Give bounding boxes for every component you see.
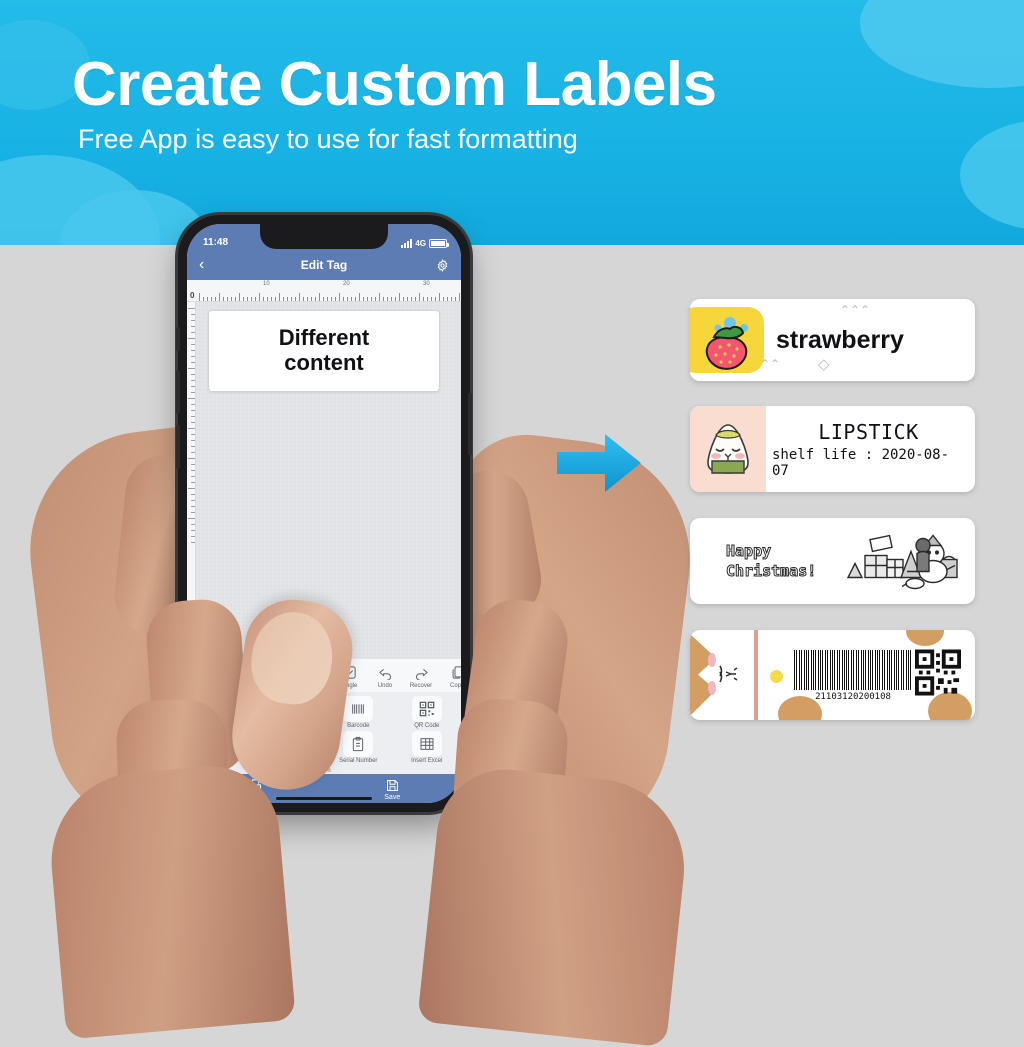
ruler-tick bbox=[191, 344, 195, 345]
chevron-left-icon[interactable]: ‹ bbox=[199, 257, 204, 273]
ruler-tick bbox=[431, 297, 432, 301]
tool-qrcode[interactable]: QR Code bbox=[393, 696, 462, 729]
save-button[interactable]: Save bbox=[384, 778, 400, 801]
ruler-tick bbox=[271, 297, 272, 301]
ruler-tick bbox=[311, 297, 312, 301]
mute-switch[interactable] bbox=[176, 327, 180, 351]
ruler-ticks bbox=[187, 289, 461, 301]
ruler-tick bbox=[191, 524, 195, 525]
cloud-decoration bbox=[860, 0, 1024, 88]
ruler-tick bbox=[451, 297, 452, 301]
ruler-tick bbox=[191, 404, 195, 405]
ruler-tick bbox=[191, 494, 195, 495]
ruler-tick bbox=[223, 297, 224, 301]
barcode-number: 21103120200108 bbox=[794, 692, 912, 702]
ruler-tick bbox=[347, 297, 348, 301]
ruler-tick bbox=[188, 308, 195, 309]
ruler-tick bbox=[395, 297, 396, 301]
ruler-tick bbox=[191, 542, 195, 543]
ruler-tick bbox=[447, 297, 448, 301]
ruler-tick bbox=[427, 297, 428, 301]
ruler-tick bbox=[251, 297, 252, 301]
ruler-tick bbox=[191, 410, 195, 411]
tool-label: Barcode bbox=[347, 723, 369, 729]
ruler-tick bbox=[199, 293, 200, 301]
cat-face-icon bbox=[690, 630, 752, 720]
ruler-tick bbox=[239, 293, 240, 301]
sticker-lipstick: LIPSTICK shelf life : 2020-08-07 bbox=[690, 406, 975, 492]
ruler-tick bbox=[255, 297, 256, 301]
ruler-tick bbox=[315, 297, 316, 301]
ruler-tick bbox=[211, 297, 212, 301]
ruler-tick bbox=[191, 446, 195, 447]
undo-arrow-icon bbox=[377, 664, 394, 681]
toolbar-item-recover[interactable]: Recover bbox=[403, 664, 439, 689]
ruler-tick bbox=[439, 293, 440, 301]
volume-down-button[interactable] bbox=[176, 425, 180, 469]
ruler-tick bbox=[287, 297, 288, 301]
tool-insert-excel[interactable]: Insert Excel bbox=[393, 731, 462, 764]
ruler-tick-label: 10 bbox=[263, 281, 270, 287]
ruler-tick bbox=[191, 332, 195, 333]
ruler-tick bbox=[339, 293, 340, 301]
ruler-tick bbox=[371, 297, 372, 301]
ruler-tick bbox=[191, 416, 195, 417]
clipboard-icon bbox=[343, 731, 373, 757]
ruler-tick bbox=[203, 297, 204, 301]
ruler-tick bbox=[188, 368, 195, 369]
ruler-tick bbox=[191, 326, 195, 327]
ruler-tick bbox=[191, 380, 195, 381]
ruler-tick-label: 30 bbox=[423, 281, 430, 287]
ruler-tick bbox=[367, 297, 368, 301]
yellow-dot-decoration bbox=[770, 670, 783, 683]
ruler-tick bbox=[231, 297, 232, 301]
ruler-tick bbox=[191, 320, 195, 321]
ruler-tick bbox=[191, 374, 195, 375]
sticker-barcode: 21103120200108 bbox=[690, 630, 975, 720]
tool-label: Insert Excel bbox=[411, 758, 442, 764]
ruler-tick bbox=[283, 297, 284, 301]
toolbar-label: Recover bbox=[410, 683, 432, 689]
ruler-tick bbox=[263, 297, 264, 301]
ruler-tick bbox=[188, 398, 195, 399]
ruler-tick bbox=[191, 386, 195, 387]
ruler-tick bbox=[375, 297, 376, 301]
ruler-tick bbox=[331, 297, 332, 301]
ruler-origin-label: 0 bbox=[190, 291, 194, 300]
save-disk-icon bbox=[385, 778, 400, 793]
ruler-tick bbox=[295, 297, 296, 301]
ruler-tick bbox=[363, 297, 364, 301]
hero-banner: Create Custom Labels Free App is easy to… bbox=[0, 0, 1024, 245]
status-indicators: 4G bbox=[401, 239, 447, 248]
sticker-strawberry: ⌃⌃⌃ ⌃⌃ ◇ strawberry bbox=[690, 299, 975, 381]
toolbar-item-copy[interactable]: Copy bbox=[439, 664, 461, 689]
ruler-tick bbox=[387, 297, 388, 301]
stripe-decoration bbox=[754, 630, 758, 720]
ruler-tick bbox=[227, 297, 228, 301]
save-label: Save bbox=[384, 794, 400, 801]
ruler-tick bbox=[419, 293, 420, 301]
ruler-tick bbox=[191, 470, 195, 471]
ruler-tick bbox=[379, 293, 380, 301]
sticker-text: Happy Christmas! bbox=[726, 541, 816, 582]
redo-arrow-icon bbox=[413, 664, 430, 681]
gear-icon[interactable] bbox=[436, 259, 449, 272]
ruler-tick bbox=[279, 293, 280, 301]
ruler-tick bbox=[391, 297, 392, 301]
ruler-tick bbox=[335, 297, 336, 301]
ruler-tick bbox=[259, 293, 260, 301]
status-time: 11:48 bbox=[203, 237, 228, 248]
ruler-tick bbox=[215, 297, 216, 301]
cloud-decoration bbox=[960, 120, 1024, 230]
ruler-tick bbox=[191, 476, 195, 477]
volume-up-button[interactable] bbox=[176, 370, 180, 414]
right-wrist bbox=[417, 763, 693, 1047]
spreadsheet-icon bbox=[412, 731, 442, 757]
ruler-tick bbox=[323, 297, 324, 301]
ruler-tick bbox=[351, 297, 352, 301]
ruler-tick bbox=[188, 428, 195, 429]
ruler-tick bbox=[191, 482, 195, 483]
toolbar-label: Undo bbox=[378, 683, 392, 689]
ruler-tick bbox=[319, 293, 320, 301]
ruler-tick bbox=[191, 464, 195, 465]
ruler-tick bbox=[343, 297, 344, 301]
horizontal-ruler: 10 20 30 0 bbox=[187, 280, 461, 302]
strawberry-icon bbox=[696, 317, 760, 373]
battery-icon bbox=[429, 239, 447, 248]
ruler-tick bbox=[291, 297, 292, 301]
label-object[interactable]: Different content bbox=[208, 310, 440, 392]
ruler-tick bbox=[435, 297, 436, 301]
ruler-tick bbox=[243, 297, 244, 301]
ruler-tick bbox=[191, 356, 195, 357]
home-indicator bbox=[276, 797, 372, 800]
nav-title: Edit Tag bbox=[187, 258, 461, 272]
signal-bars-icon bbox=[401, 239, 412, 248]
ruler-tick bbox=[359, 293, 360, 301]
ruler-tick bbox=[303, 297, 304, 301]
ruler-tick bbox=[191, 362, 195, 363]
ruler-tick bbox=[191, 422, 195, 423]
tool-label: Serial Number bbox=[339, 758, 377, 764]
ruler-tick bbox=[267, 297, 268, 301]
ruler-tick bbox=[307, 297, 308, 301]
ruler-tick bbox=[191, 440, 195, 441]
ruler-tick bbox=[423, 297, 424, 301]
ruler-tick-label: 20 bbox=[343, 281, 350, 287]
ruler-tick bbox=[188, 458, 195, 459]
toolbar-item-undo[interactable]: Undo bbox=[367, 664, 403, 689]
toolbar-label: Copy bbox=[450, 683, 461, 689]
ruler-tick bbox=[327, 297, 328, 301]
page-title: Create Custom Labels bbox=[72, 52, 717, 117]
ruler-tick bbox=[443, 297, 444, 301]
copy-icon bbox=[449, 664, 462, 681]
ruler-tick bbox=[188, 338, 195, 339]
barcode-icon bbox=[794, 650, 912, 690]
ruler-tick bbox=[275, 297, 276, 301]
ruler-tick bbox=[455, 297, 456, 301]
strawberry-art bbox=[690, 299, 768, 381]
sticker-title: LIPSTICK bbox=[818, 420, 918, 444]
qr-code-icon bbox=[412, 696, 442, 722]
christmas-scene-icon bbox=[841, 528, 961, 595]
sticker-text-block: LIPSTICK shelf life : 2020-08-07 bbox=[772, 406, 965, 492]
ruler-tick bbox=[191, 434, 195, 435]
left-wrist bbox=[44, 760, 296, 1039]
notch bbox=[260, 224, 388, 249]
sticker-christmas: Happy Christmas! bbox=[690, 518, 975, 604]
qr-code-icon bbox=[915, 650, 961, 701]
ruler-tick bbox=[191, 314, 195, 315]
ruler-tick bbox=[188, 518, 195, 519]
ruler-tick bbox=[411, 297, 412, 301]
blob-decoration bbox=[906, 630, 944, 646]
ruler-tick bbox=[191, 350, 195, 351]
arrow-right-icon bbox=[555, 430, 643, 496]
ruler-tick bbox=[415, 297, 416, 301]
ruler-tick bbox=[207, 297, 208, 301]
ruler-tick bbox=[407, 297, 408, 301]
ruler-tick bbox=[403, 297, 404, 301]
ruler-tick bbox=[191, 500, 195, 501]
sticker-text: strawberry bbox=[776, 299, 967, 381]
sticker-subtitle: shelf life : 2020-08-07 bbox=[772, 447, 965, 479]
ruler-tick bbox=[191, 512, 195, 513]
label-object-text: Different content bbox=[279, 326, 369, 375]
ruler-tick bbox=[247, 297, 248, 301]
ruler-tick bbox=[191, 392, 195, 393]
ruler-tick bbox=[299, 293, 300, 301]
ruler-tick bbox=[219, 293, 220, 301]
ruler-tick bbox=[188, 488, 195, 489]
page-subtitle: Free App is easy to use for fast formatt… bbox=[78, 124, 578, 155]
barcode-icon bbox=[343, 696, 373, 722]
network-type-label: 4G bbox=[415, 239, 426, 248]
ruler-tick bbox=[399, 293, 400, 301]
tool-label: QR Code bbox=[414, 723, 439, 729]
ruler-tick bbox=[355, 297, 356, 301]
ruler-tick bbox=[235, 297, 236, 301]
app-nav-bar: ‹ Edit Tag bbox=[187, 250, 461, 280]
ruler-tick bbox=[459, 293, 460, 301]
ruler-tick bbox=[191, 452, 195, 453]
riceball-character-icon bbox=[690, 406, 766, 492]
ruler-tick bbox=[191, 536, 195, 537]
power-button[interactable] bbox=[468, 393, 472, 455]
ruler-tick bbox=[191, 506, 195, 507]
ruler-tick bbox=[191, 530, 195, 531]
ruler-tick bbox=[383, 297, 384, 301]
